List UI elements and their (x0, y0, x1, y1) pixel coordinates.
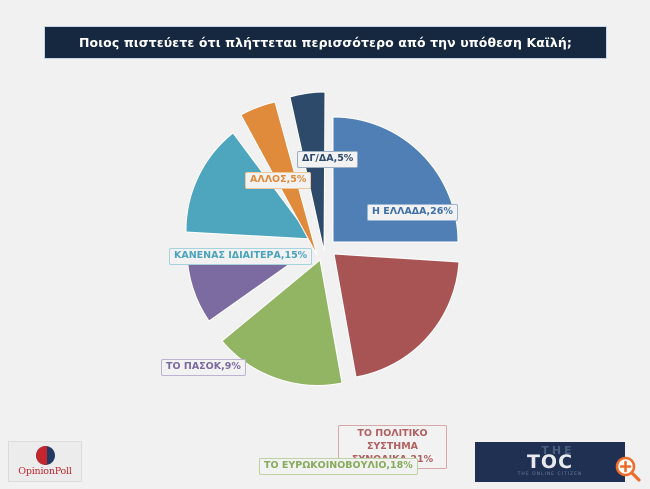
thetoc-main-text: TOC (527, 453, 573, 472)
pie-chart-svg (0, 62, 650, 432)
pie-chart: Η ΕΛΛΑΔΑ,26% ΤΟ ΠΟΛΙΤΙΚΟ ΣΥΣΤΗΜΑ ΣΥΝΟΛΙΚ… (0, 62, 650, 432)
pie-label-pasok: ΤΟ ΠΑΣΟΚ,9% (161, 359, 246, 376)
thetoc-logo: THE TOC THE ONLINE CITIZEN (475, 442, 625, 482)
chart-title-bar: Ποιος πιστεύετε ότι πλήττεται περισσότερ… (44, 26, 607, 59)
page-title: Ποιος πιστεύετε ότι πλήττεται περισσότερ… (79, 35, 572, 50)
opinionpoll-wordmark: OpinionPoll (18, 466, 72, 477)
thetoc-tagline: THE ONLINE CITIZEN (518, 472, 583, 478)
zoom-in-magnifier-icon[interactable] (614, 455, 642, 483)
pie-label-ellada: Η ΕΛΛΑΔΑ,26% (367, 204, 458, 221)
pie-slice-ellada[interactable] (333, 117, 458, 242)
pie-label-eurokoinovoulio: ΤΟ ΕΥΡΩΚΟΙΝΟΒΟΥΛΙΟ,18% (259, 458, 418, 475)
opinionpoll-logo: OpinionPoll (8, 441, 82, 482)
opinionpoll-mark-icon (36, 446, 55, 465)
pie-label-dgda: ΔΓ/ΔΑ,5% (297, 151, 358, 168)
pie-label-allos: ΑΛΛΟΣ,5% (245, 172, 311, 189)
pie-label-kanenas-idiaitera: ΚΑΝΕΝΑΣ ΙΔΙΑΙΤΕΡΑ,15% (169, 248, 312, 265)
pie-slice-politiko-systima[interactable] (334, 254, 459, 377)
